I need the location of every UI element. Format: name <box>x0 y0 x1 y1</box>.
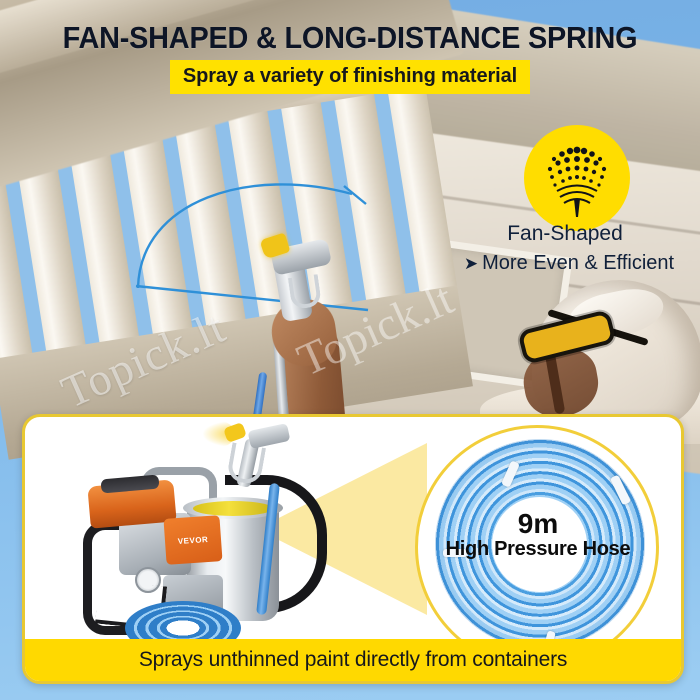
paint-sprayer-machine: VEVOR <box>67 425 327 657</box>
page-title: FAN-SHAPED & LONG-DISTANCE SPRING <box>25 20 676 56</box>
machine-gun-body <box>248 423 291 449</box>
card-footer-bar: Sprays unthinned paint directly from con… <box>25 639 681 681</box>
card-footer-text: Sprays unthinned paint directly from con… <box>139 648 567 672</box>
hose-length: 9m <box>403 509 673 538</box>
worker-figure <box>475 276 700 436</box>
machine-spray-gun <box>219 423 293 483</box>
product-marketing-image: Topick.lt Topick.lt FAN-SHAPED & LONG-DI… <box>0 0 700 700</box>
badge-benefit-text: More Even & Efficient <box>482 252 674 274</box>
fan-spray-pattern-icon <box>524 125 630 231</box>
brand-logo-text: VEVOR <box>177 534 208 545</box>
subtitle-banner: Spray a variety of finishing material <box>170 60 530 94</box>
paint-surface <box>193 501 273 516</box>
hose-callout-text: 9m High Pressure Hose <box>403 509 673 561</box>
hose-caption: High Pressure Hose <box>403 538 673 561</box>
machine-gun-trigger-guard <box>226 442 266 485</box>
spray-arc-guide <box>130 160 370 320</box>
caret-icon: ➤ <box>464 254 478 273</box>
badge-label: Fan-Shaped <box>430 222 700 246</box>
feature-card: 9m High Pressure Hose VEVOR <box>22 414 684 684</box>
fan-shaped-badge <box>524 125 630 231</box>
badge-benefit: ➤More Even & Efficient <box>430 252 700 275</box>
brand-logo: VEVOR <box>163 515 222 565</box>
subtitle-container: Spray a variety of finishing material <box>0 60 700 94</box>
